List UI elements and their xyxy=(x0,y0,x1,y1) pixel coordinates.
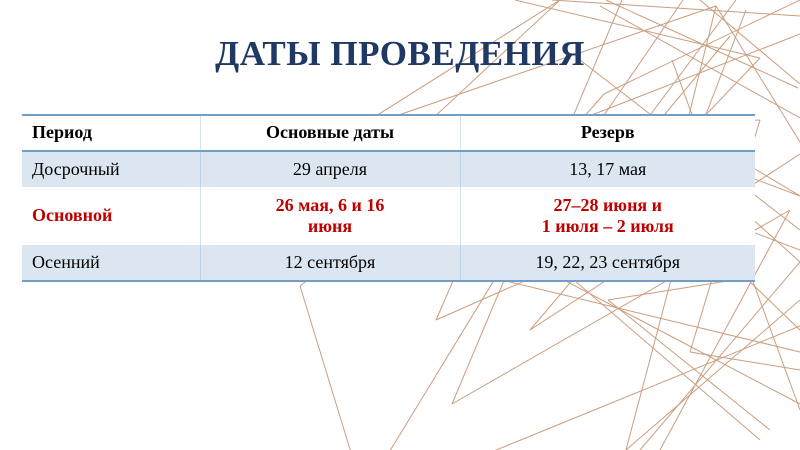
cell-period: Осенний xyxy=(22,245,200,281)
column-header-period: Период xyxy=(22,115,200,151)
cell-reserve-line1: 27–28 июня и xyxy=(461,195,756,216)
cell-reserve: 13, 17 мая xyxy=(460,151,755,187)
page-title: ДАТЫ ПРОВЕДЕНИЯ xyxy=(0,34,800,74)
cell-reserve: 19, 22, 23 сентября xyxy=(460,245,755,281)
cell-reserve-line2: 1 июля – 2 июля xyxy=(461,216,756,237)
column-header-main-dates: Основные даты xyxy=(200,115,460,151)
cell-main-dates-line2: июня xyxy=(201,216,460,237)
cell-period: Досрочный xyxy=(22,151,200,187)
exam-dates-table: Период Основные даты Резерв Досрочный 29… xyxy=(22,114,755,282)
cell-main-dates: 26 мая, 6 и 16 июня xyxy=(200,187,460,245)
cell-main-dates-line1: 26 мая, 6 и 16 xyxy=(201,195,460,216)
table-row: Основной 26 мая, 6 и 16 июня 27–28 июня … xyxy=(22,187,755,245)
table-header-row: Период Основные даты Резерв xyxy=(22,115,755,151)
cell-main-dates: 12 сентября xyxy=(200,245,460,281)
table-row: Осенний 12 сентября 19, 22, 23 сентября xyxy=(22,245,755,281)
column-header-reserve: Резерв xyxy=(460,115,755,151)
table-row: Досрочный 29 апреля 13, 17 мая xyxy=(22,151,755,187)
cell-reserve: 27–28 июня и 1 июля – 2 июля xyxy=(460,187,755,245)
cell-period: Основной xyxy=(22,187,200,245)
cell-main-dates: 29 апреля xyxy=(200,151,460,187)
